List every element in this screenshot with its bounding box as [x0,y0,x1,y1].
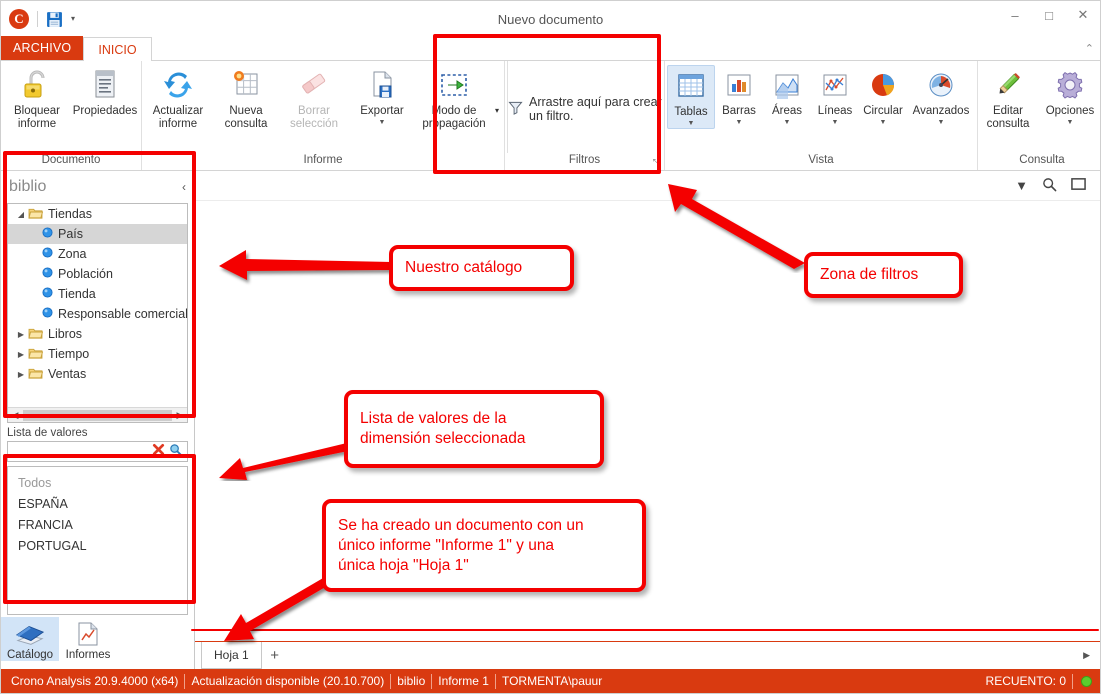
catalog-panel: biblio ‹ ◢ Tiendas [1,171,195,669]
status-right-group: RECUENTO: 0 [980,674,1100,689]
folder-icon [28,347,43,362]
main-area: biblio ‹ ◢ Tiendas [1,171,1100,669]
ribbon-button-modo-propagacion[interactable]: Modo de propagación [416,65,492,130]
tab-inicio[interactable]: INICIO [83,37,151,61]
chevron-down-icon[interactable]: ▼ [688,120,695,128]
status-user: TORMENTA\pauur [496,674,608,688]
window-title: Nuevo documento [1,12,1100,27]
expand-collapse-icon[interactable]: ▶ [14,350,28,359]
ribbon-button-label: Exportar [349,105,415,118]
ribbon-group-filtros: Arrastre aquí para crear un filtro. Filt… [504,61,664,170]
ribbon-button-label: Barras [716,105,762,118]
ribbon-tab-strip: ARCHIVO INICIO ⌃ [1,37,1100,61]
folder-icon [28,327,43,342]
pencil-icon [993,67,1023,103]
eraser-icon [298,67,330,103]
search-icon[interactable] [1042,177,1057,195]
tree-node-pais[interactable]: País [8,224,187,244]
toolbar-divider [37,11,38,27]
ribbon-group-label: Documento [3,153,139,170]
scrollbar-thumb[interactable] [23,410,172,421]
expand-collapse-icon[interactable]: ▶ [14,370,28,379]
ribbon-button-actualizar-informe[interactable]: Actualizar informe [144,65,212,130]
add-sheet-button[interactable]: + [262,642,288,669]
tab-archivo[interactable]: ARCHIVO [1,36,83,60]
app-menu-button[interactable]: C [9,9,29,29]
properties-icon [91,67,119,103]
caret-glyph: ▾ [493,105,501,118]
propagation-icon [438,67,470,103]
gear-icon [1055,67,1085,103]
lov-item[interactable]: PORTUGAL [18,536,187,557]
panel-tab-label: Catálogo [7,649,53,661]
ribbon-button-label: Borrar selección [281,105,347,130]
scroll-left-icon[interactable]: ◀ [8,410,22,421]
refresh-icon [161,67,195,103]
export-icon [368,67,396,103]
quick-access-toolbar: C ▾ [1,9,75,29]
close-button[interactable]: ✕ [1066,1,1100,29]
chevron-down-icon[interactable]: ▼ [832,119,839,127]
tree-node-ventas[interactable]: ▶ Ventas [8,364,187,384]
tree-node-label: Tiendas [48,207,92,221]
book-icon [15,619,45,649]
tree-node-label: País [58,227,83,241]
dimension-icon [42,307,53,321]
dimension-icon [42,247,53,261]
report-canvas[interactable] [195,201,1100,641]
ribbon-button-label: Editar consulta [981,105,1035,130]
sheet-tab-bar: Hoja 1 + ▶ [195,641,1100,669]
search-icon[interactable] [169,443,182,461]
dimension-icon [42,267,53,281]
ribbon-button-bloquear-informe[interactable]: Bloquear informe [3,65,71,130]
ribbon-button-exportar[interactable]: Exportar ▼ [348,65,416,127]
ribbon-button-circular[interactable]: Circular ▼ [859,65,907,127]
area-chart-icon [773,67,801,103]
window-icon[interactable] [1071,177,1086,194]
lov-list[interactable]: Todos ESPAÑA FRANCIA PORTUGAL [7,466,188,615]
ribbon-button-label: Avanzados [908,105,974,118]
catalog-header: biblio ‹ [1,171,194,203]
funnel-icon [508,100,523,118]
ribbon-button-label: Modo de propagación [417,105,491,130]
ribbon-button-editar-consulta[interactable]: Editar consulta [980,65,1036,130]
tree-node-tienda[interactable]: Tienda [8,284,187,304]
ribbon-button-barras[interactable]: Barras ▼ [715,65,763,127]
dimension-icon [42,287,53,301]
maximize-button[interactable]: □ [1032,1,1066,29]
chevron-down-icon[interactable]: ▼ [938,119,945,127]
filter-dropzone[interactable]: Arrastre aquí para crear un filtro. [507,61,662,153]
ribbon-button-nueva-consulta[interactable]: Nueva consulta [212,65,280,130]
ribbon-button-label: Opciones [1037,105,1101,118]
ribbon-button-label: Nueva consulta [213,105,279,130]
minimize-button[interactable]: – [998,1,1032,29]
panel-tab-informes[interactable]: Informes [59,617,117,661]
ribbon-button-label: Circular [860,105,906,118]
chevron-down-icon[interactable]: ▼ [379,119,386,127]
lov-item[interactable]: ESPAÑA [18,494,187,515]
ribbon-button-label: Bloquear informe [4,105,70,130]
tree-node-responsable-comercial[interactable]: Responsable comercial [8,304,187,324]
ribbon-button-avanzados[interactable]: Avanzados ▼ [907,65,975,127]
ribbon-group-vista: Tablas ▼ Barras ▼ [664,61,977,170]
tree-node-label: Ventas [48,367,86,381]
line-chart-icon [821,67,849,103]
ribbon-group-label: Informe [144,153,502,170]
ribbon-button-areas[interactable]: Áreas ▼ [763,65,811,127]
status-divider [1072,674,1073,689]
clear-icon[interactable] [152,443,165,461]
dimension-icon [42,227,53,241]
report-toolbar: ▼ [195,171,1100,201]
ribbon-button-label: Áreas [764,105,810,118]
ribbon-button-modo-propagacion-caret[interactable]: ▾ [492,65,502,118]
ribbon-group-consulta: Editar consulta Opciones ▼ Con [977,61,1101,170]
ribbon-button-label: Propiedades [72,105,138,118]
padlock-open-icon [21,67,53,103]
chevron-down-icon[interactable]: ▼ [736,119,743,127]
table-icon [677,68,705,104]
lov-search-box[interactable] [7,441,188,462]
report-pane: ▼ Hoja 1 + ▶ [195,171,1100,669]
collapse-panel-icon[interactable]: ‹ [182,180,186,194]
sheet-scroll-right-icon[interactable]: ▶ [1083,642,1100,669]
catalog-tree[interactable]: ◢ Tiendas País [7,203,188,423]
folder-icon [28,207,43,222]
ribbon-button-borrar-seleccion[interactable]: Borrar selección [280,65,348,130]
report-icon [75,619,101,649]
ribbon-group-label: Filtros [507,153,662,170]
lov-item[interactable]: Todos [18,473,187,494]
ribbon-group-label: Consulta [980,153,1101,170]
green-status-dot-icon [1081,676,1092,687]
save-icon[interactable] [46,11,63,28]
panel-tab-label: Informes [66,649,111,661]
chevron-down-icon[interactable]: ▼ [1067,119,1074,127]
status-count: RECUENTO: 0 [980,674,1072,688]
window-controls: – □ ✕ [998,1,1100,37]
ribbon-button-label: Tablas [669,106,713,119]
ribbon-button-opciones[interactable]: Opciones ▼ [1036,65,1101,127]
tree-node-label: Zona [58,247,87,261]
lov-item[interactable]: FRANCIA [18,515,187,536]
customize-quick-access-icon[interactable]: ▾ [71,15,75,23]
status-update[interactable]: Actualización disponible (20.10.700) [185,674,390,688]
ribbon-button-lineas[interactable]: Líneas ▼ [811,65,859,127]
catalog-title: biblio [9,178,46,196]
tree-node-zona[interactable]: Zona [8,244,187,264]
expand-collapse-icon[interactable]: ◢ [14,210,28,219]
gauge-icon [926,67,956,103]
status-bar: Crono Analysis 20.9.4000 (x64) Actualiza… [1,669,1100,693]
tree-horizontal-scrollbar[interactable]: ◀ ▶ [8,407,187,422]
tree-node-label: Libros [48,327,82,341]
ribbon-group-documento: Bloquear informe [1,61,141,170]
chevron-down-icon[interactable]: ▼ [880,119,887,127]
tree-node-tiempo[interactable]: ▶ Tiempo [8,344,187,364]
ribbon-button-tablas[interactable]: Tablas ▼ [667,65,715,129]
status-catalog: biblio [391,674,431,688]
lov-label: Lista de valores [1,423,194,441]
status-report: Informe 1 [432,674,495,688]
scroll-right-icon[interactable]: ▶ [173,410,187,421]
ribbon-group-label: Vista [667,153,975,170]
new-query-icon [230,67,262,103]
ribbon-group-informe: Actualizar informe [141,61,504,170]
pie-chart-icon [868,67,898,103]
status-version: Crono Analysis 20.9.4000 (x64) [5,674,184,688]
tree-node-libros[interactable]: ▶ Libros [8,324,187,344]
ribbon-button-propiedades[interactable]: Propiedades [71,65,139,118]
tree-node-label: Responsable comercial [58,307,188,321]
tree-node-poblacion[interactable]: Población [8,264,187,284]
filter-dropzone-label: Arrastre aquí para crear un filtro. [529,95,662,123]
filters-dialog-launcher-icon[interactable]: ⤡ [653,157,660,168]
bar-chart-icon [725,67,753,103]
chevron-down-icon[interactable]: ▼ [784,119,791,127]
panel-bottom-tabs: Catálogo Informes [1,615,194,669]
panel-tab-catalogo[interactable]: Catálogo [1,617,59,661]
tree-node-label: Población [58,267,113,281]
tree-node-label: Tienda [58,287,96,301]
tree-node-tiendas[interactable]: ◢ Tiendas [8,204,187,224]
application-window: C ▾ Nuevo documento – □ ✕ ARCHIVO [0,0,1101,694]
folder-icon [28,367,43,382]
ribbon-button-label: Líneas [812,105,858,118]
tree-node-label: Tiempo [48,347,89,361]
ribbon-button-label: Actualizar informe [145,105,211,130]
ribbon: Bloquear informe [1,61,1100,171]
chevron-down-icon[interactable]: ▼ [1015,178,1028,193]
collapse-ribbon-icon[interactable]: ⌃ [1085,42,1094,55]
sheet-tab-hoja-1[interactable]: Hoja 1 [201,642,262,669]
expand-collapse-icon[interactable]: ▶ [14,330,28,339]
title-bar: C ▾ Nuevo documento – □ ✕ [1,1,1100,37]
